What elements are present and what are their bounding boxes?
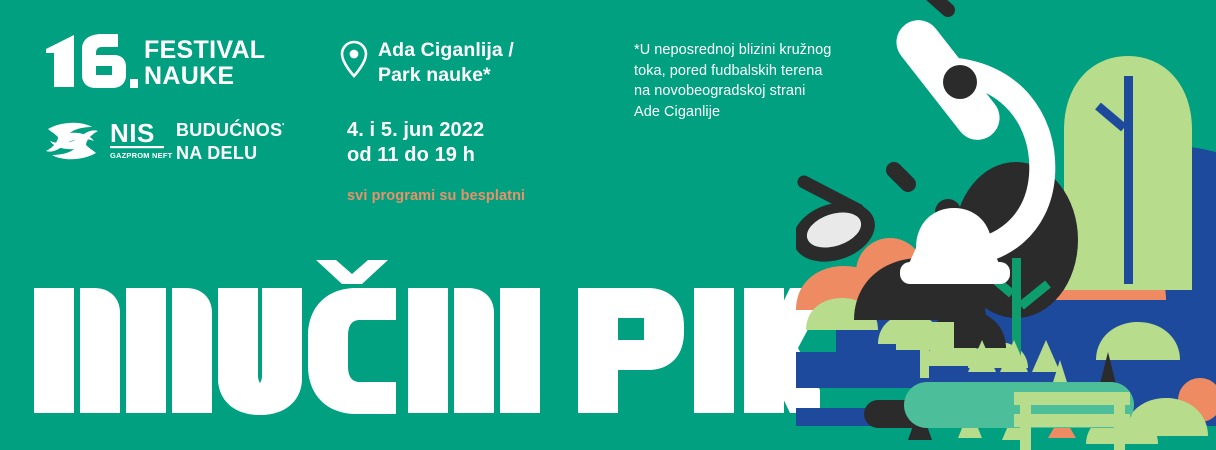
headline-word-naucni — [34, 260, 540, 415]
festival-logo-number — [46, 34, 138, 88]
sponsor-logo-svg: NIS GAZPROM NEFT BUDUĆNOST NA DELU — [44, 115, 284, 167]
microscope-icon — [888, 0, 1043, 284]
festival-logo-line1: FESTIVAL — [144, 36, 265, 64]
park-illustration — [796, 0, 1216, 450]
sponsor-logo: NIS GAZPROM NEFT BUDUĆNOST NA DELU — [44, 115, 284, 167]
nis-swoosh-icon — [46, 123, 98, 160]
nis-subname: GAZPROM NEFT — [110, 151, 173, 160]
event-date-text: 4. i 5. jun 2022 od 11 do 19 h — [347, 118, 484, 168]
headline-word-piknik — [578, 288, 820, 413]
festival-logo-line2: NAUKE — [144, 62, 234, 89]
location-block: Ada Ciganlija / Park nauke* — [340, 38, 600, 88]
park-illustration-svg — [796, 0, 1216, 450]
festival-logo: FESTIVAL NAUKE — [44, 33, 284, 89]
pine-row — [968, 340, 1060, 372]
sponsor-slogan-line2: NA DELU — [176, 143, 257, 163]
headline-svg — [30, 258, 820, 423]
nis-wordmark: NIS — [110, 118, 155, 148]
science-picnic-banner: FESTIVAL NAUKE NIS GAZPROM NEFT BUDUĆNOS… — [0, 0, 1216, 450]
location-text: Ada Ciganlija / Park nauke* — [378, 38, 514, 88]
nis-rule — [110, 146, 164, 148]
sponsor-slogan-line1: BUDUĆNOST — [176, 119, 284, 140]
free-programs-note: svi programi su besplatni — [347, 188, 525, 204]
festival-logo-svg: FESTIVAL NAUKE — [44, 33, 284, 89]
map-pin-icon — [340, 40, 368, 83]
headline-naucni-piknik — [30, 258, 820, 423]
